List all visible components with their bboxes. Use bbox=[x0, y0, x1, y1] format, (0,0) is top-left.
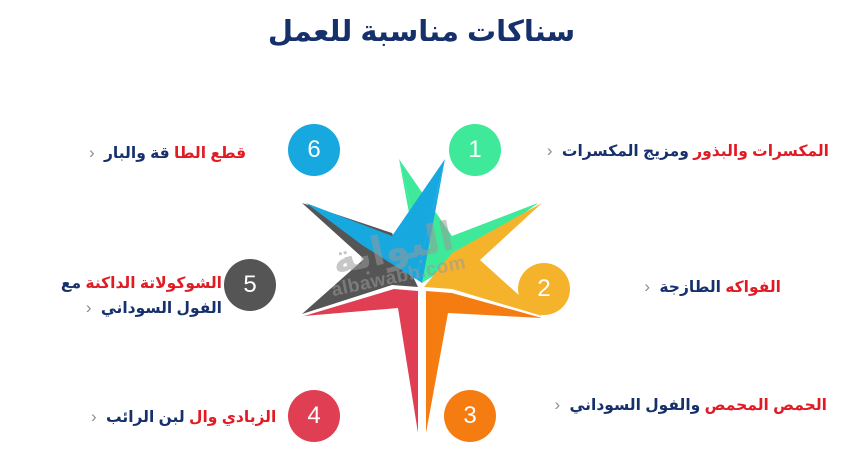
badge-5[interactable]: 5 bbox=[224, 259, 276, 311]
label-6-navy: قة والبار bbox=[104, 145, 170, 162]
label-4-red: الزبادي وال bbox=[189, 409, 276, 426]
label-5-red: الشوكولاتة الداكنة bbox=[85, 275, 222, 292]
badge-3[interactable]: 3 bbox=[444, 390, 496, 442]
label-1-red: المكسرات والبذور bbox=[693, 143, 829, 160]
infographic-canvas: سناكات مناسبة للعمل البوابة albawabh.com… bbox=[0, 0, 843, 463]
label-4-navy: لبن الرائب bbox=[106, 409, 185, 426]
badge-3-number: 3 bbox=[463, 402, 476, 430]
chevron-left-icon-2: ‹ bbox=[644, 274, 650, 300]
badge-6[interactable]: 6 bbox=[288, 124, 340, 176]
badge-2-number: 2 bbox=[537, 275, 550, 303]
badge-4[interactable]: 4 bbox=[288, 390, 340, 442]
label-2-navy: الطازجة bbox=[659, 279, 721, 296]
badge-5-number: 5 bbox=[243, 271, 256, 299]
label-item-6[interactable]: قطع الطا قة والبار ‹ bbox=[84, 140, 246, 166]
badge-1[interactable]: 1 bbox=[449, 124, 501, 176]
chevron-left-icon-6: ‹ bbox=[89, 140, 95, 166]
label-2-red: الفواكه bbox=[725, 279, 781, 296]
chevron-left-icon-5: ‹ bbox=[86, 295, 92, 321]
chevron-left-icon-3: ‹ bbox=[555, 392, 561, 418]
badge-6-number: 6 bbox=[307, 136, 320, 164]
label-6-red: قطع الطا bbox=[174, 145, 246, 162]
label-item-4[interactable]: الزبادي وال لبن الرائب ‹ bbox=[86, 404, 276, 430]
label-1-navy: ومزيج المكسرات bbox=[562, 143, 689, 160]
badge-2[interactable]: 2 bbox=[518, 263, 570, 315]
page-title: سناكات مناسبة للعمل bbox=[0, 14, 843, 49]
label-3-navy: والفول السوداني bbox=[570, 397, 701, 414]
badge-1-number: 1 bbox=[468, 136, 481, 164]
label-item-2[interactable]: الفواكه الطازجة ‹ bbox=[639, 274, 781, 300]
badge-4-number: 4 bbox=[307, 402, 320, 430]
label-item-1[interactable]: المكسرات والبذور ومزيج المكسرات ‹ bbox=[542, 138, 829, 164]
chevron-left-icon-4: ‹ bbox=[91, 404, 97, 430]
label-item-3[interactable]: الحمص المحمص والفول السوداني ‹ bbox=[550, 392, 827, 418]
label-item-5[interactable]: الشوكولاتة الداكنة مع الفول السوداني ‹ bbox=[12, 272, 222, 321]
chevron-left-icon-1: ‹ bbox=[547, 138, 553, 164]
label-3-red: الحمص المحمص bbox=[705, 397, 827, 414]
